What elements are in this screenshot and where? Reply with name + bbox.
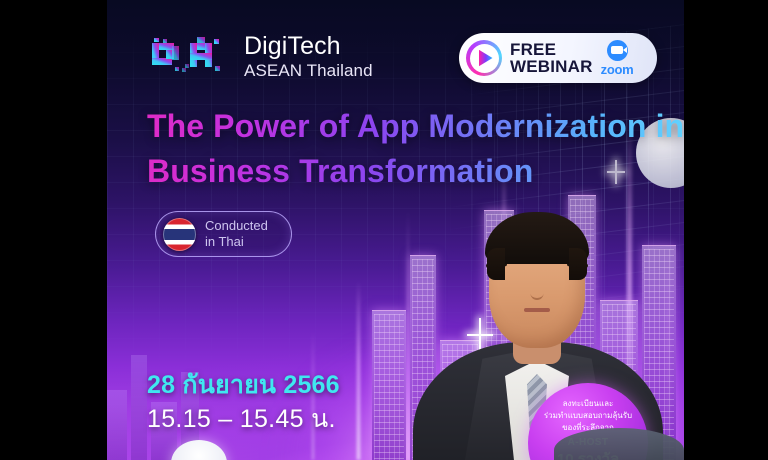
prize-line-1: ลงทะเบียนและ: [563, 398, 614, 410]
zoom-wordmark: zoom: [601, 62, 634, 77]
schedule-block: 28 กันยายน 2566 15.15 – 15.45 น.: [147, 370, 340, 435]
letterbox-bar-left: [0, 0, 107, 460]
brand-subtitle: ASEAN Thailand: [244, 62, 373, 80]
event-date: 28 กันยายน 2566: [147, 370, 340, 401]
zoom-logo: zoom: [601, 40, 634, 77]
webinar-poster: DigiTech ASEAN Thailand FREE WEBINAR zoo…: [0, 0, 768, 460]
digitech-pixel-logo-icon: [149, 33, 231, 79]
play-circle-icon: [466, 40, 502, 76]
webinar-label: WEBINAR: [510, 58, 593, 75]
brand-title: DigiTech: [244, 33, 373, 59]
language-badge[interactable]: Conducted in Thai: [155, 211, 292, 257]
poster-artwork: DigiTech ASEAN Thailand FREE WEBINAR zoo…: [107, 0, 684, 460]
free-webinar-badge[interactable]: FREE WEBINAR zoom: [459, 33, 657, 83]
letterbox-bar-right: [684, 0, 768, 460]
webinar-free-label: FREE: [510, 41, 593, 58]
light-beam: [357, 280, 360, 460]
page-title: The Power of App Modernization in Busine…: [147, 104, 684, 195]
zoom-camera-icon: [607, 40, 628, 61]
prize-line-2: ร่วมทำแบบสอบถามลุ้นรับ: [544, 410, 632, 422]
thailand-flag-icon: [163, 218, 196, 251]
event-time: 15.15 – 15.45 น.: [147, 404, 340, 435]
language-badge-line1: Conducted: [205, 218, 268, 234]
language-badge-line2: in Thai: [205, 234, 268, 250]
brand-logo: DigiTech ASEAN Thailand: [149, 32, 373, 80]
